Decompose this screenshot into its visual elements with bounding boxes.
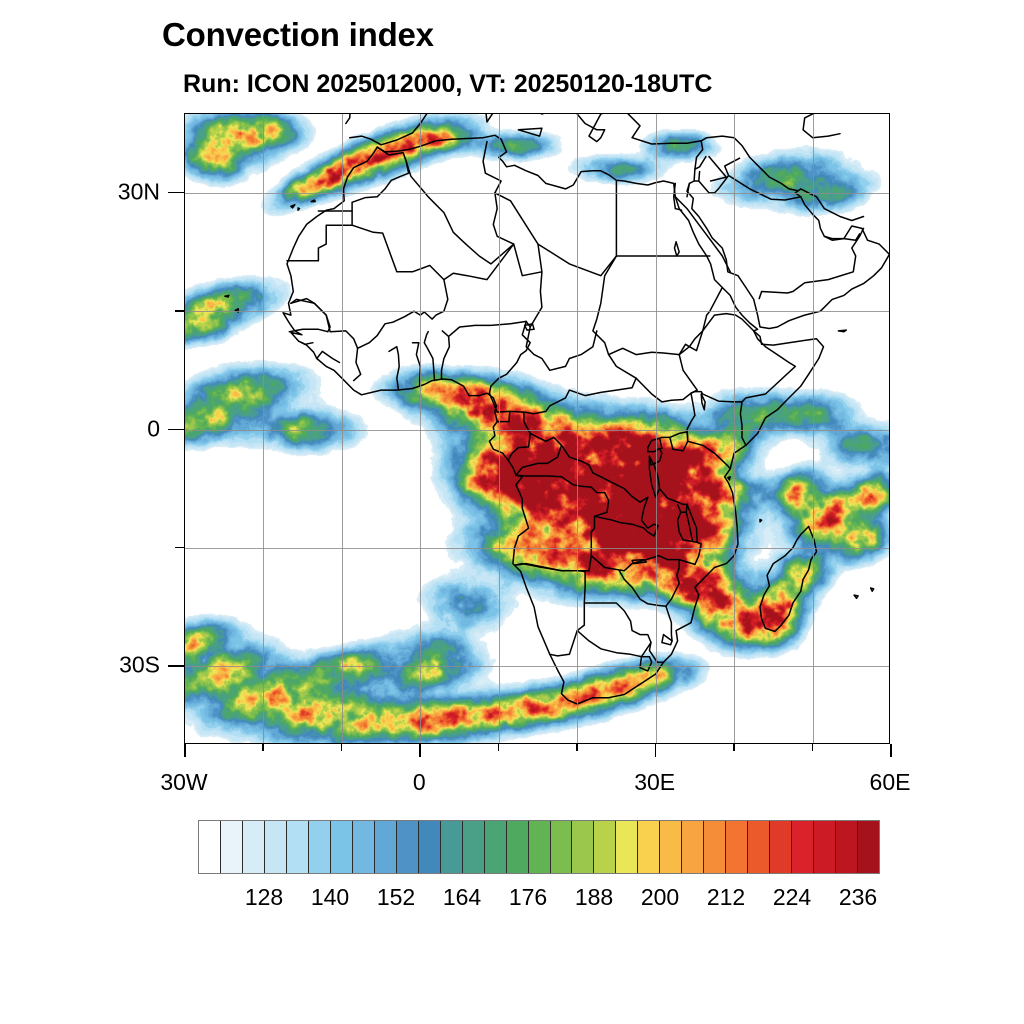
colorbar-cell <box>265 821 287 873</box>
x-axis-tick <box>655 744 657 757</box>
colorbar-cell <box>858 821 879 873</box>
colorbar-tick-label: 188 <box>575 884 613 911</box>
colorbar-tick-label: 200 <box>641 884 679 911</box>
colorbar-cell <box>770 821 792 873</box>
gridline-meridian <box>734 114 735 743</box>
x-axis-label: 60E <box>870 769 911 796</box>
x-axis-tick <box>812 744 814 751</box>
colorbar-cell <box>441 821 463 873</box>
y-axis-tick <box>168 665 184 667</box>
colorbar-tick-label: 176 <box>509 884 547 911</box>
x-axis-label: 30E <box>634 769 675 796</box>
colorbar-tick-label: 128 <box>245 884 283 911</box>
x-axis-tick <box>733 744 735 751</box>
gridline-meridian <box>499 114 500 743</box>
y-axis-label: 0 <box>0 415 160 442</box>
page-title: Convection index <box>162 16 434 54</box>
x-axis-tick <box>262 744 264 751</box>
y-axis-tick <box>175 310 184 312</box>
colorbar-cell <box>287 821 309 873</box>
colorbar-cell <box>397 821 419 873</box>
y-axis-tick <box>168 429 184 431</box>
gridline-parallel <box>185 193 889 194</box>
y-axis-tick <box>168 192 184 194</box>
colorbar-cell <box>572 821 594 873</box>
y-axis-label: 30S <box>0 652 160 679</box>
colorbar-cell <box>529 821 551 873</box>
colorbar-cell <box>726 821 748 873</box>
colorbar-tick-label: 164 <box>443 884 481 911</box>
x-axis-tick <box>184 744 186 757</box>
x-axis-tick <box>498 744 500 751</box>
colorbar-cell <box>594 821 616 873</box>
colorbar-cell <box>748 821 770 873</box>
colorbar-cell <box>463 821 485 873</box>
colorbar-cell <box>704 821 726 873</box>
gridline-parallel <box>185 548 889 549</box>
x-axis-tick <box>341 744 343 751</box>
gridline-parallel <box>185 311 889 312</box>
gridline-meridian <box>263 114 264 743</box>
x-axis-tick <box>576 744 578 751</box>
colorbar-cell <box>331 821 353 873</box>
colorbar-tick-labels: 128140152164176188200212224236 <box>0 884 1024 918</box>
colorbar-cell <box>353 821 375 873</box>
x-axis-tick <box>419 744 421 757</box>
colorbar-tick-label: 140 <box>311 884 349 911</box>
colorbar-tick-label: 224 <box>773 884 811 911</box>
figure-subtitle: Run: ICON 2025012000, VT: 20250120-18UTC <box>183 70 712 99</box>
colorbar-cell <box>243 821 265 873</box>
colorbar[interactable] <box>198 820 880 874</box>
gridline-meridian <box>813 114 814 743</box>
colorbar-cell <box>682 821 704 873</box>
y-axis-label: 30N <box>0 178 160 205</box>
colorbar-cell <box>199 821 221 873</box>
x-axis-tick <box>890 744 892 757</box>
gridline-meridian <box>342 114 343 743</box>
colorbar-cell <box>660 821 682 873</box>
colorbar-cell <box>375 821 397 873</box>
colorbar-cell <box>419 821 441 873</box>
colorbar-cell <box>221 821 243 873</box>
gridline-parallel <box>185 666 889 667</box>
x-axis-label: 0 <box>413 769 426 796</box>
colorbar-tick-label: 152 <box>377 884 415 911</box>
colorbar-cell <box>638 821 660 873</box>
gridline-meridian <box>420 114 421 743</box>
y-axis-tick <box>175 547 184 549</box>
colorbar-cell <box>551 821 573 873</box>
gridline-meridian <box>656 114 657 743</box>
colorbar-tick-label: 212 <box>707 884 745 911</box>
colorbar-cell <box>485 821 507 873</box>
colorbar-cell <box>814 821 836 873</box>
colorbar-cell <box>309 821 331 873</box>
gridline-meridian <box>577 114 578 743</box>
colorbar-cell <box>616 821 638 873</box>
colorbar-tick-label: 236 <box>839 884 877 911</box>
colorbar-cell <box>792 821 814 873</box>
gridline-parallel <box>185 430 889 431</box>
colorbar-cell <box>836 821 858 873</box>
colorbar-cell <box>507 821 529 873</box>
figure-root: Convection index Run: ICON 2025012000, V… <box>0 0 1024 1024</box>
map-plot-area[interactable] <box>184 113 890 744</box>
x-axis-label: 30W <box>160 769 207 796</box>
